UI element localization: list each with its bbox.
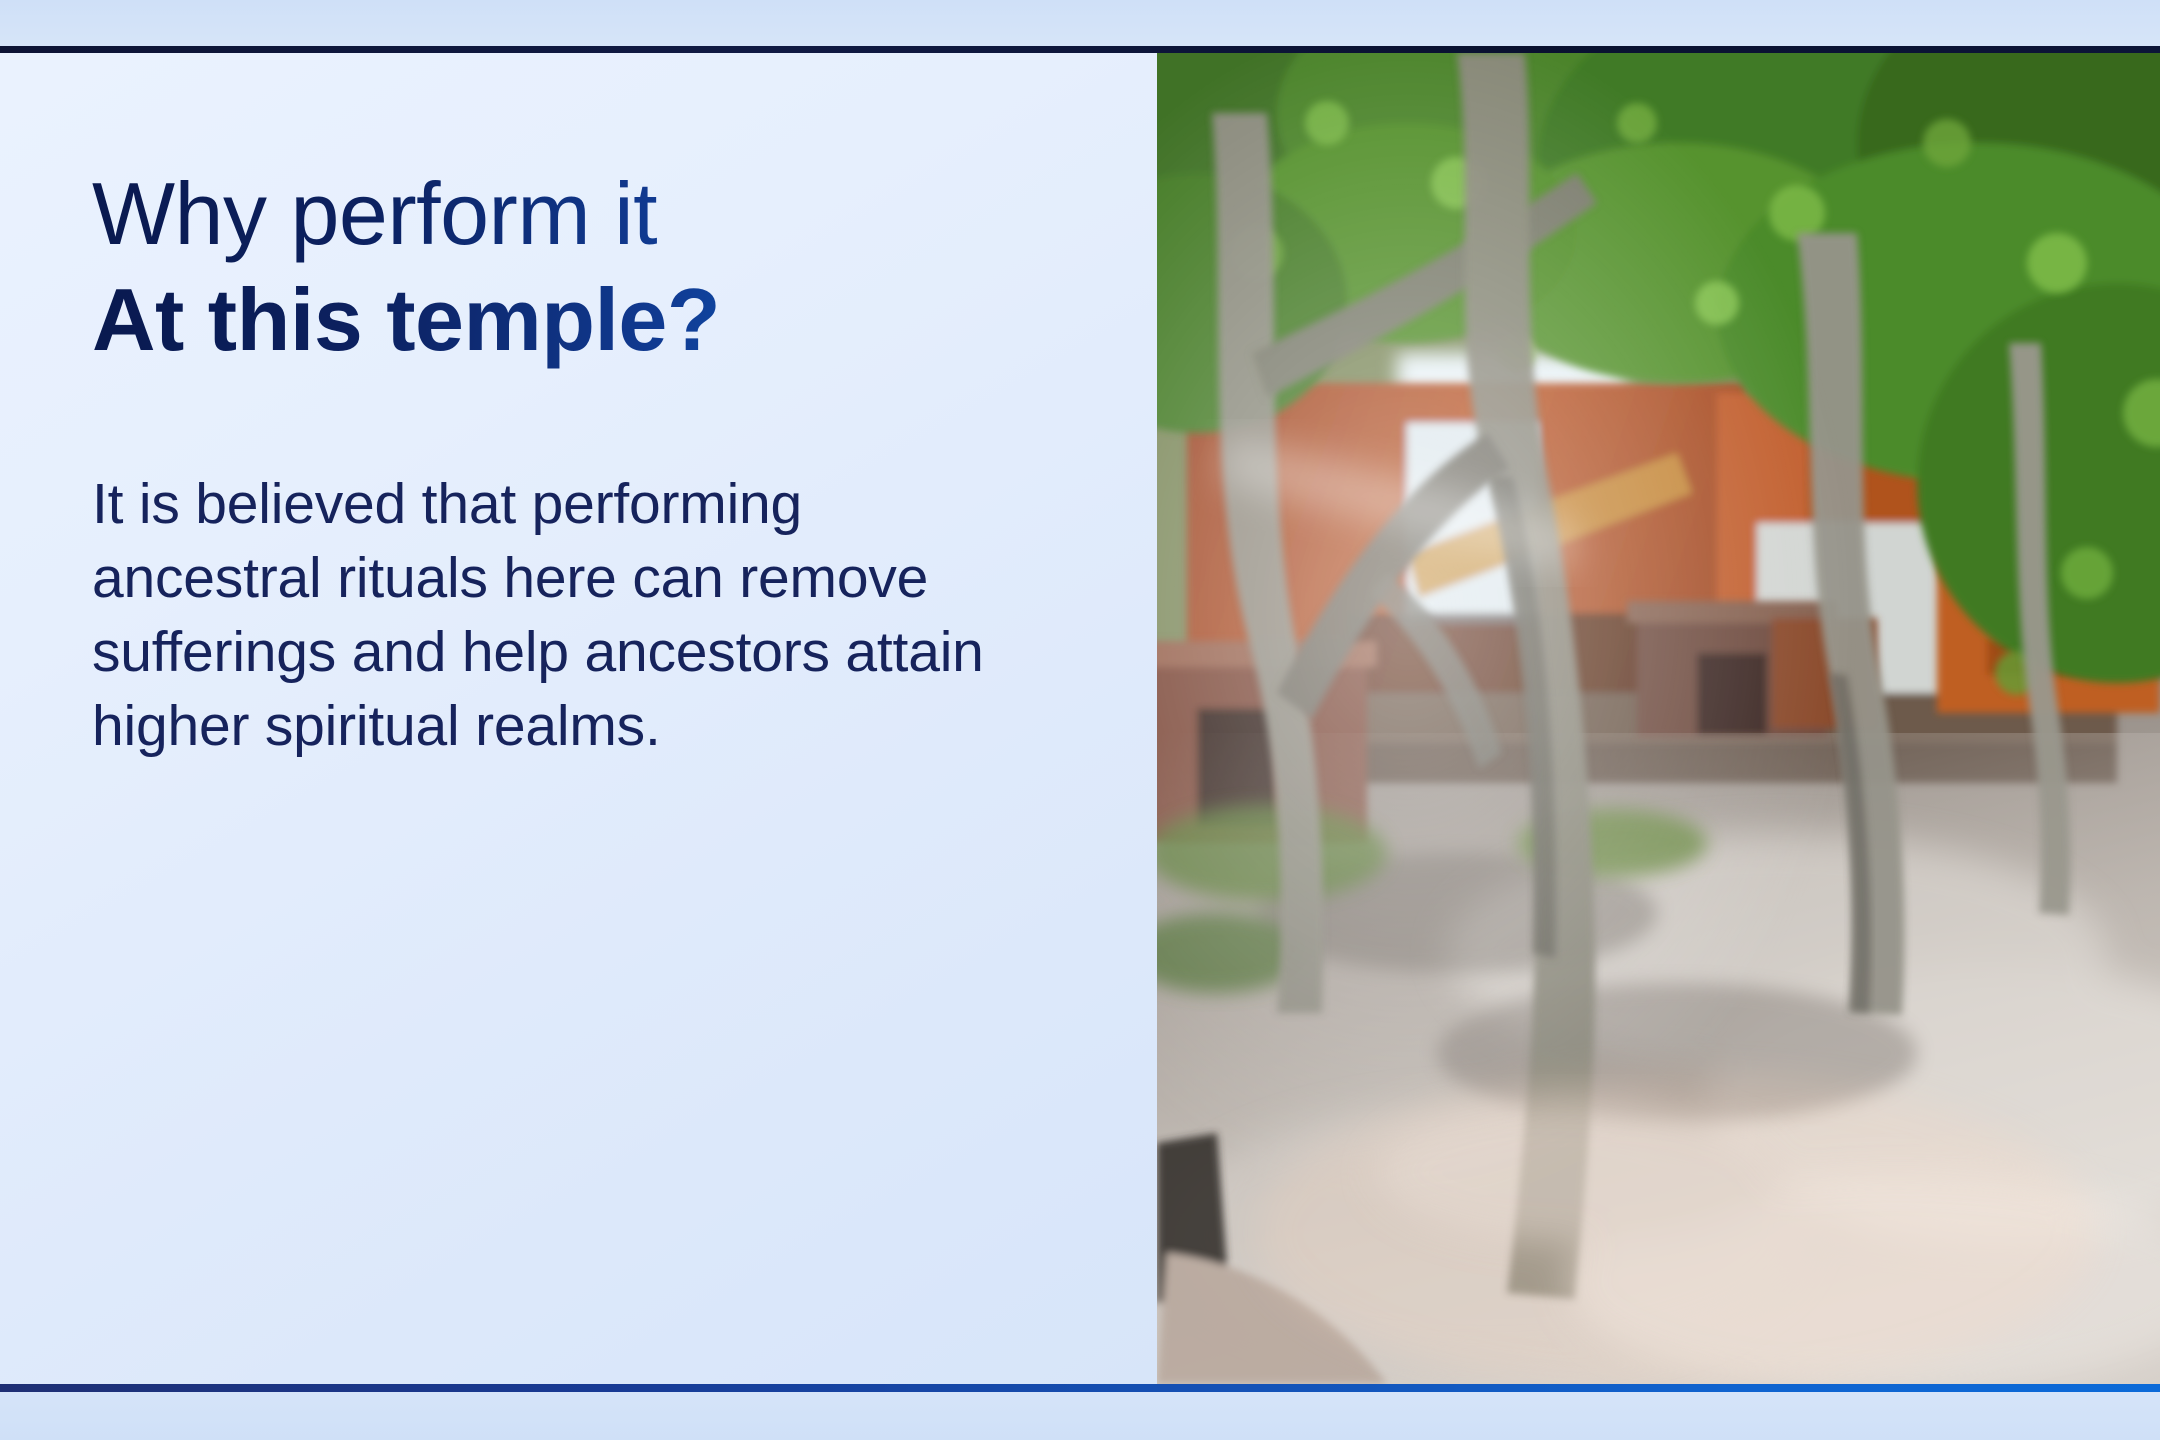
headline-line-1: Why perform it xyxy=(92,163,1067,265)
photo-illustration xyxy=(1157,53,2160,1384)
page-title: Why perform it At this temple? xyxy=(92,163,1067,371)
slide-root: Why perform it At this temple? It is bel… xyxy=(0,0,2160,1440)
headline-line-2: At this temple? xyxy=(92,269,1067,371)
text-panel: Why perform it At this temple? It is bel… xyxy=(0,53,1157,1384)
bottom-margin-band xyxy=(0,1392,2160,1440)
top-rule xyxy=(0,46,2160,53)
body-paragraph: It is believed that performing ancestral… xyxy=(92,467,1022,763)
bottom-rule xyxy=(0,1384,2160,1392)
temple-courtyard-photo xyxy=(1157,53,2160,1384)
top-margin-band xyxy=(0,0,2160,52)
